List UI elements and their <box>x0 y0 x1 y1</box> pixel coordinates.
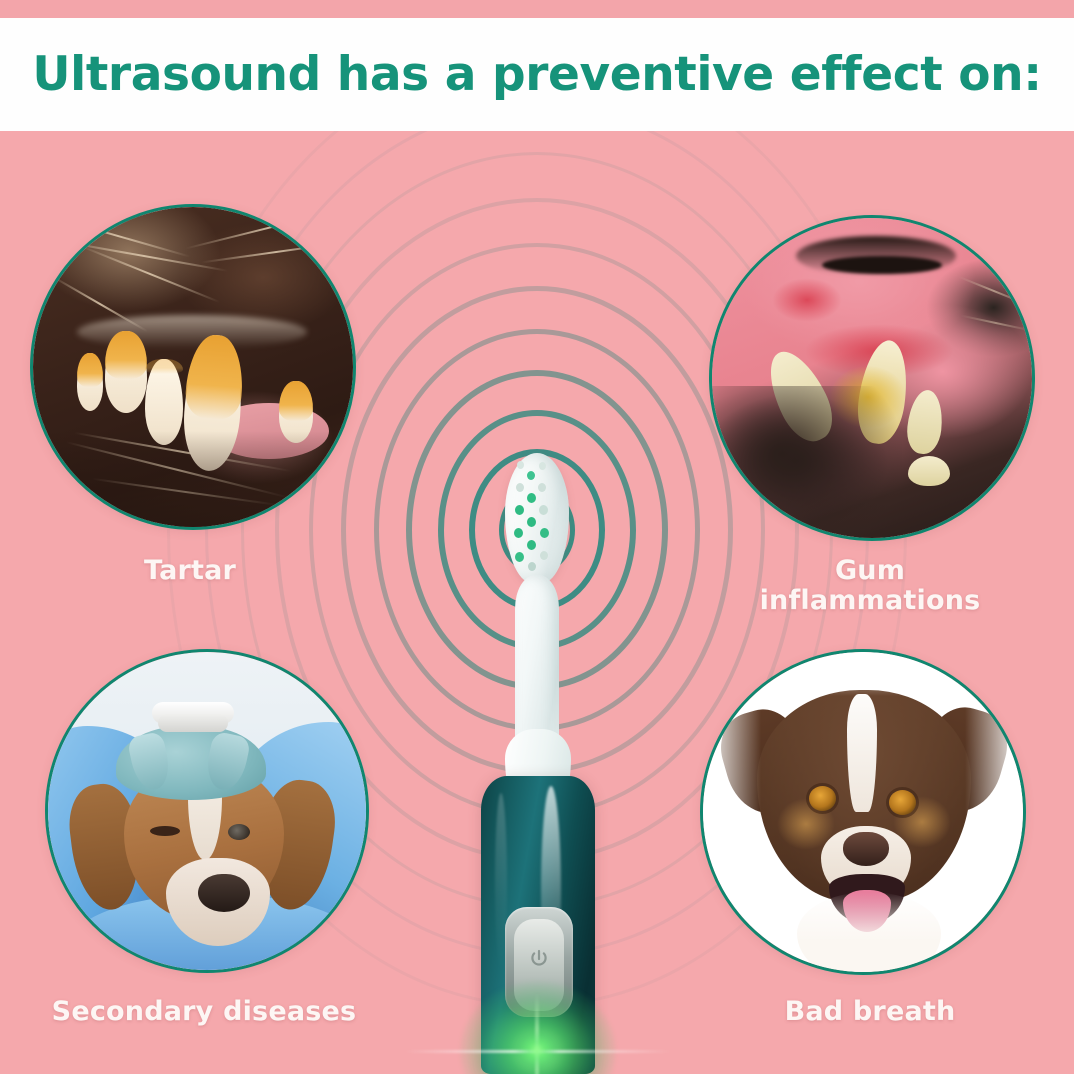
sick-dog-photo-art <box>48 652 366 970</box>
card-image-secondary-diseases[interactable] <box>45 649 369 973</box>
card-image-bad-breath[interactable] <box>700 649 1026 975</box>
main-stage: Tartar <box>0 131 1074 1074</box>
gum-photo-art <box>712 218 1032 538</box>
power-indicator-core <box>514 1029 560 1071</box>
photo-gum-inflammations <box>712 218 1032 538</box>
card-image-gum-inflammations[interactable] <box>709 215 1035 541</box>
tartar-photo-art <box>33 207 353 527</box>
happy-dog-photo-art <box>703 652 1023 972</box>
infographic-page: Ultrasound has a preventive effect on: <box>0 0 1074 1074</box>
caption-tartar: Tartar <box>22 556 358 586</box>
title-band: Ultrasound has a preventive effect on: <box>0 18 1074 131</box>
top-pink-band <box>0 0 1074 18</box>
photo-tartar <box>33 207 353 527</box>
glow-flare-horizontal <box>404 1050 672 1053</box>
photo-bad-breath <box>703 652 1023 972</box>
photo-secondary-diseases <box>48 652 366 970</box>
caption-bad-breath: Bad breath <box>700 997 1040 1027</box>
page-title: Ultrasound has a preventive effect on: <box>32 47 1041 102</box>
caption-gum-inflammations: Gum inflammations <box>700 556 1040 616</box>
caption-secondary-diseases: Secondary diseases <box>22 997 386 1027</box>
card-image-tartar[interactable] <box>30 204 356 530</box>
